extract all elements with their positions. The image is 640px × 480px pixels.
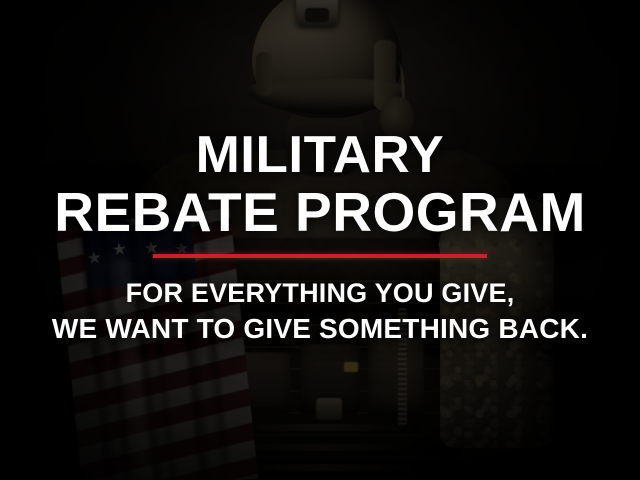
military-rebate-program-hero-banner: MILITARY REBATE PROGRAM FOR EVERYTHING Y… bbox=[0, 0, 640, 480]
headline-line-2: REBATE PROGRAM bbox=[54, 186, 586, 239]
red-divider-rule bbox=[153, 254, 487, 258]
subheadline-line-2: WE WANT TO GIVE SOMETHING BACK. bbox=[52, 313, 588, 345]
headline-line-1: MILITARY bbox=[196, 131, 445, 181]
text-overlay: MILITARY REBATE PROGRAM FOR EVERYTHING Y… bbox=[0, 0, 640, 480]
subheadline-line-1: FOR EVERYTHING YOU GIVE, bbox=[126, 278, 515, 309]
